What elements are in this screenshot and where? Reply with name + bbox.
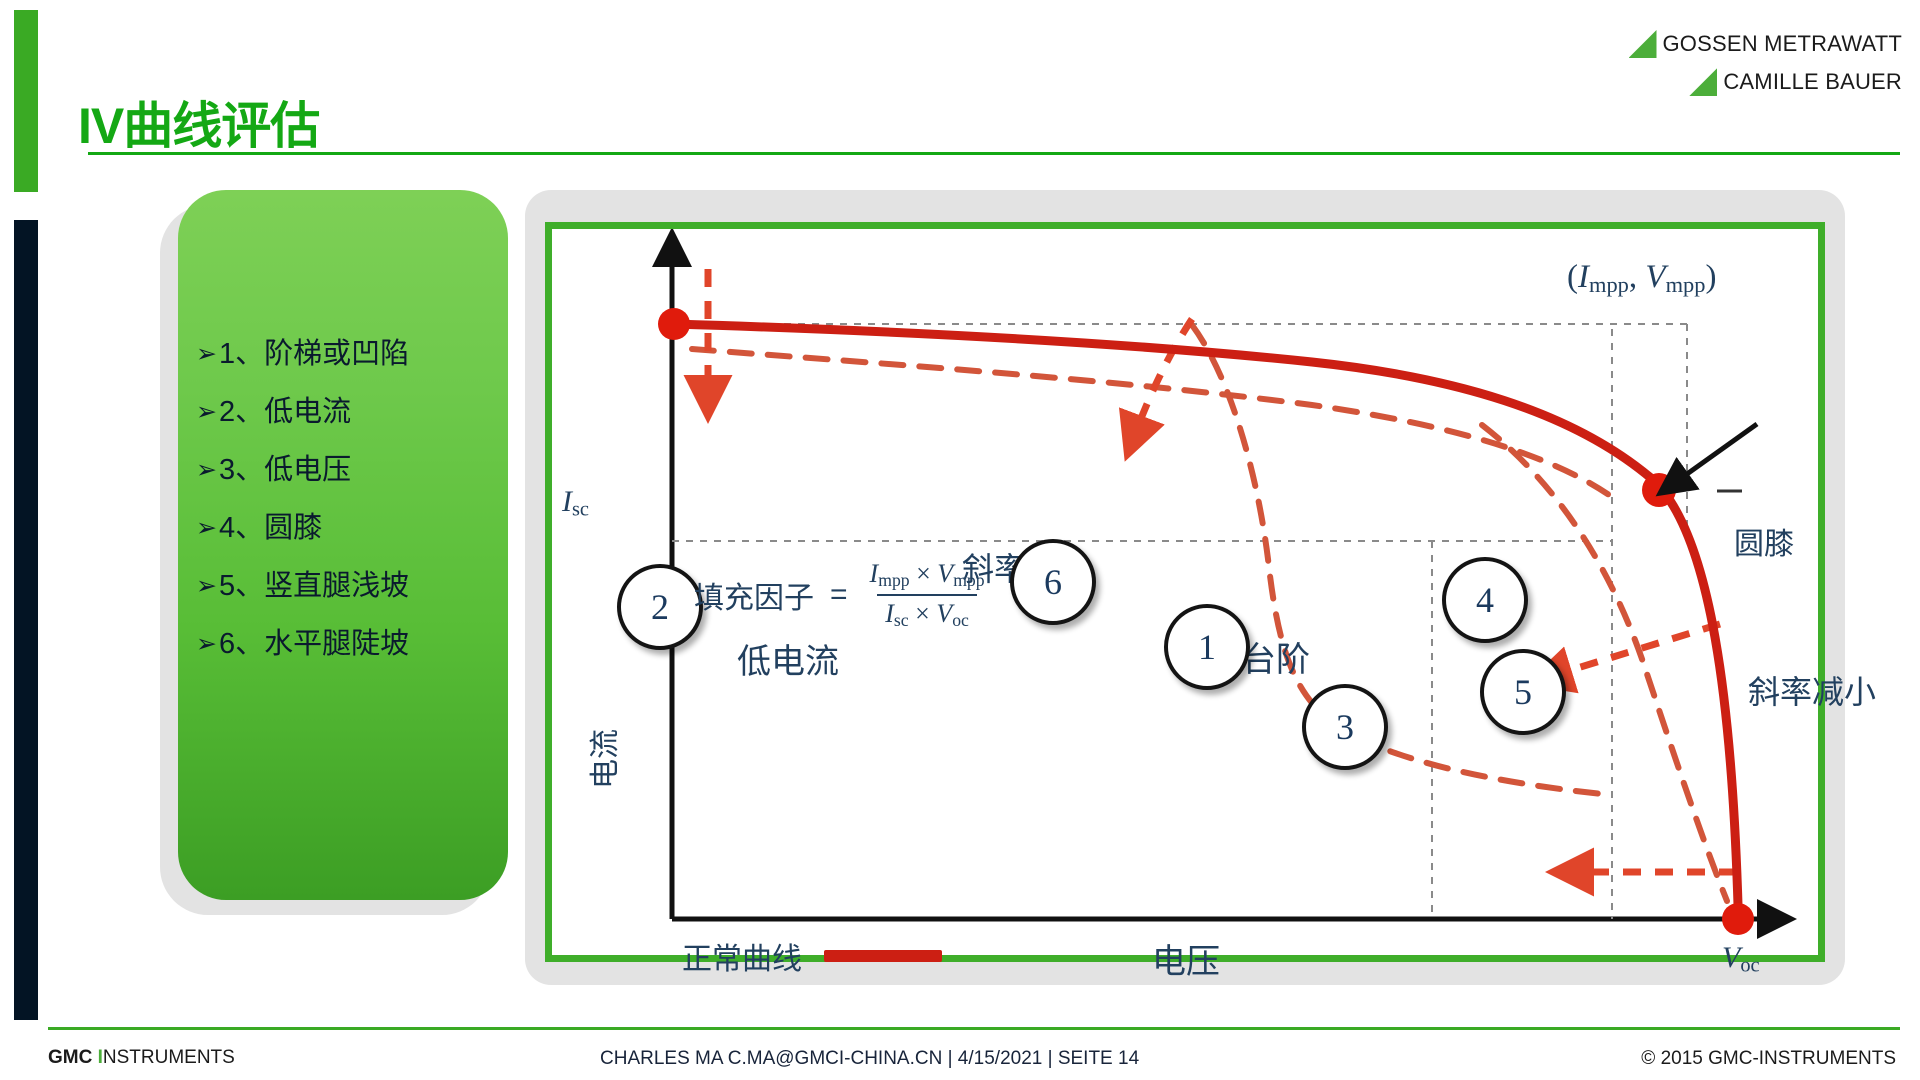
green-triangle-icon (1689, 68, 1717, 96)
list-item: ➢ 3、低电压 (196, 456, 508, 485)
list-item: ➢ 5、竖直腿浅坡 (196, 572, 508, 601)
left-accent-bar-navy (14, 220, 38, 1020)
list-item-label: 2、低电流 (219, 398, 351, 427)
callout-4[interactable]: 4 (1442, 557, 1528, 643)
callout-2[interactable]: 2 (617, 564, 703, 650)
page-title: IV曲线评估 (78, 86, 319, 158)
arrow-bullet-icon: ➢ (196, 342, 217, 367)
mpp-pointer-arrow (1680, 424, 1757, 479)
y-axis-label: 电流 (580, 729, 624, 789)
legend-swatch-normal-curve (824, 950, 942, 962)
formula-equals: = (830, 578, 848, 612)
label-low-current: 低电流 (737, 634, 839, 683)
left-accent-bar-green (14, 10, 38, 192)
label-isc: Isc (562, 485, 589, 521)
callout-5[interactable]: 5 (1480, 649, 1566, 735)
list-item-label: 4、圆膝 (219, 514, 322, 543)
list-item-label: 5、竖直腿浅坡 (219, 572, 409, 601)
logo-camille-bauer: CAMILLE BAUER (1602, 68, 1902, 96)
list-item: ➢ 1、阶梯或凹陷 (196, 340, 508, 369)
slide-root: IV曲线评估 GOSSEN METRAWATT CAMILLE BAUER ➢ … (0, 0, 1920, 1080)
footer-meta: CHARLES MA C.MA@GMCI-CHINA.CN | 4/15/202… (600, 1048, 1139, 1070)
x-axis-label: 电压 (1152, 934, 1220, 983)
footer-logo: GMC INSTRUMENTS (48, 1047, 235, 1069)
arrow-bullet-icon: ➢ (196, 574, 217, 599)
footer-copyright: © 2015 GMC-INSTRUMENTS (1641, 1048, 1896, 1070)
logo-label: GOSSEN METRAWATT (1663, 31, 1903, 57)
label-voc: Voc (1722, 941, 1760, 977)
fault-list-card: ➢ 1、阶梯或凹陷 ➢ 2、低电流 ➢ 3、低电压 ➢ 4、圆膝 ➢ 5、竖直腿… (178, 190, 508, 900)
legend-label: 正常曲线 (682, 934, 802, 978)
marker-voc (1722, 903, 1754, 935)
list-item: ➢ 6、水平腿陡坡 (196, 630, 508, 659)
title-underline (88, 152, 1900, 155)
series-low-current (692, 349, 1612, 497)
label-step: 台阶 (1242, 632, 1310, 681)
logo-gossen-metrawatt: GOSSEN METRAWATT (1602, 30, 1902, 58)
formula-lhs: 填充因子 (694, 573, 814, 617)
formula-fraction: Impp × Vmpp Isc × Voc (862, 559, 993, 631)
list-item: ➢ 2、低电流 (196, 398, 508, 427)
footer-logo-rest: NSTRUMENTS (103, 1047, 235, 1068)
formula-denominator: Isc × Voc (877, 594, 977, 631)
formula-numerator: Impp × Vmpp (862, 559, 993, 594)
list-item-label: 6、水平腿陡坡 (219, 630, 409, 659)
callout-6[interactable]: 6 (1010, 539, 1096, 625)
arrow-bullet-icon: ➢ (196, 516, 217, 541)
fill-factor-formula: 填充因子 = Impp × Vmpp Isc × Voc (694, 559, 993, 631)
label-mpp: (Impp, Vmpp) (1567, 259, 1716, 298)
label-slope-decrease: 斜率减小 (1748, 667, 1876, 713)
list-item: ➢ 4、圆膝 (196, 514, 508, 543)
arrow-bullet-icon: ➢ (196, 458, 217, 483)
list-item-label: 1、阶梯或凹陷 (219, 340, 409, 369)
callout-3[interactable]: 3 (1302, 684, 1388, 770)
arrow-slope-increase (1137, 319, 1192, 429)
marker-mpp (1642, 473, 1676, 507)
iv-curve-chart: Isc Voc (Impp, Vmpp) 圆膝 斜率增大 斜率减小 台阶 低电流… (545, 222, 1825, 962)
label-round-knee: 圆膝 (1734, 519, 1794, 563)
marker-isc (658, 308, 690, 340)
green-triangle-icon (1629, 30, 1657, 58)
logo-label: CAMILLE BAUER (1723, 69, 1902, 95)
footer-logo-gmc: GMC (48, 1047, 98, 1068)
chart-legend: 正常曲线 (682, 934, 942, 978)
footer-divider (48, 1027, 1900, 1030)
callout-1[interactable]: 1 (1164, 604, 1250, 690)
list-item-label: 3、低电压 (219, 456, 351, 485)
arrow-bullet-icon: ➢ (196, 400, 217, 425)
brand-logos: GOSSEN METRAWATT CAMILLE BAUER (1602, 30, 1902, 106)
arrow-bullet-icon: ➢ (196, 632, 217, 657)
